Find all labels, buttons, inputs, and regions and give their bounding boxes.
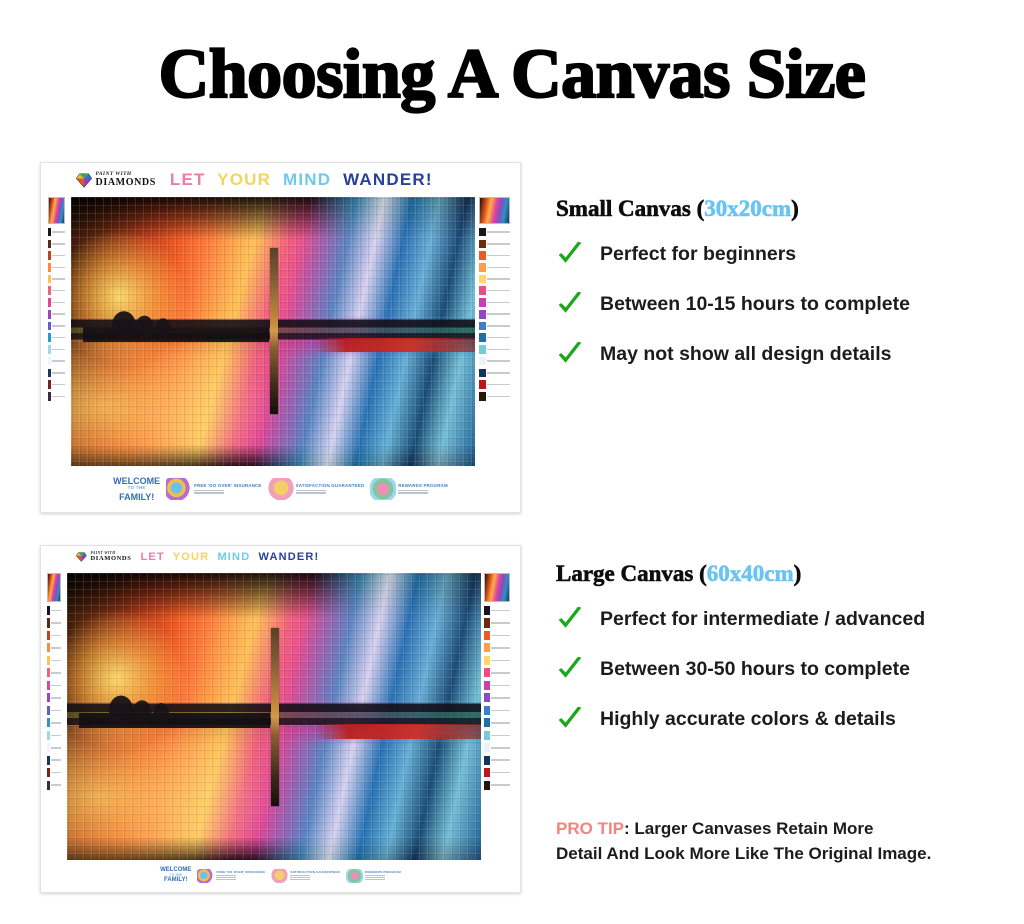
color-legend-left xyxy=(47,573,61,860)
badge-do-over-insurance: FREE 'DO OVER' INSURANCE xyxy=(197,869,265,883)
paint-splash-icon xyxy=(166,478,192,500)
legend-row xyxy=(479,309,510,320)
badge-title: SATISFACTION GUARANTEED xyxy=(290,871,340,874)
legend-row xyxy=(47,630,61,641)
tagline-word-1: LET xyxy=(170,170,206,189)
brand-main: DIAMONDS xyxy=(91,556,132,563)
canvas-tagline: LET YOUR MIND WANDER! xyxy=(140,551,323,563)
legend-row xyxy=(48,391,65,402)
legend-row xyxy=(484,617,510,628)
badge-text: SATISFACTION GUARANTEED xyxy=(290,871,340,880)
artwork-thumbnail xyxy=(479,197,510,224)
heading-prefix: Small Canvas ( xyxy=(556,196,704,221)
legend-row xyxy=(47,692,61,703)
gift-icon xyxy=(346,869,363,883)
feature-label: Perfect for intermediate / advanced xyxy=(600,608,925,631)
legend-rows xyxy=(48,225,65,466)
large-canvas-heading: Large Canvas (60x40cm) xyxy=(556,561,925,587)
legend-row xyxy=(479,379,510,390)
legend-row xyxy=(48,262,65,273)
legend-row xyxy=(479,368,510,379)
legend-row xyxy=(479,356,510,367)
feature-label: Perfect for beginners xyxy=(600,243,796,266)
heading-size: 60x40cm xyxy=(707,561,794,586)
legend-row xyxy=(479,332,510,343)
legend-row xyxy=(47,717,61,728)
brand-text: PAINT WITH DIAMONDS xyxy=(91,552,132,562)
check-icon xyxy=(556,240,584,268)
artwork-thumbnail xyxy=(484,573,510,602)
badge-satisfaction-guaranteed: SATISFACTION GUARANTEED xyxy=(268,478,365,500)
canvas-tagline: LET YOUR MIND WANDER! xyxy=(170,170,439,190)
legend-row xyxy=(484,730,510,741)
badge-text: FREE 'DO OVER' INSURANCE xyxy=(194,484,261,494)
welcome-line2: FAMILY! xyxy=(164,877,187,883)
badge-title: SATISFACTION GUARANTEED xyxy=(296,484,365,489)
canvas-preview-large[interactable]: PAINT WITH DIAMONDS LET YOUR MIND WANDER… xyxy=(40,545,521,893)
artwork-monument xyxy=(270,248,278,415)
section-small-canvas: Small Canvas (30x20cm) Perfect for begin… xyxy=(556,196,910,390)
legend-row xyxy=(479,238,510,249)
legend-row xyxy=(48,356,65,367)
legend-row xyxy=(47,705,61,716)
certificate-icon xyxy=(271,869,288,883)
canvas-artwork xyxy=(71,197,476,466)
heading-suffix: ) xyxy=(794,561,802,586)
legend-row xyxy=(479,285,510,296)
pro-tip: PRO TIP: Larger Canvases Retain More Det… xyxy=(556,816,931,866)
badge-satisfaction-guaranteed: SATISFACTION GUARANTEED xyxy=(271,869,340,883)
welcome-line2: FAMILY! xyxy=(119,492,154,502)
legend-rows xyxy=(484,603,510,860)
pro-tip-separator: : xyxy=(624,819,634,838)
legend-row xyxy=(484,742,510,753)
brand-text: PAINT WITH DIAMONDS xyxy=(96,172,156,188)
feature-label: Between 10-15 hours to complete xyxy=(600,293,910,316)
legend-row xyxy=(47,642,61,653)
legend-row xyxy=(47,605,61,616)
badge-rewards-program: REWARDS PROGRAM xyxy=(370,478,448,500)
artwork-thumbnail xyxy=(48,197,65,224)
legend-row xyxy=(484,642,510,653)
legend-row xyxy=(48,297,65,308)
tagline-word-4: WANDER! xyxy=(343,170,433,189)
artwork-treeline xyxy=(79,688,270,728)
color-legend-right xyxy=(484,573,510,860)
badge-title: REWARDS PROGRAM xyxy=(398,484,448,489)
pro-tip-line2: Detail And Look More Like The Original I… xyxy=(556,844,931,863)
legend-row xyxy=(479,391,510,402)
badge-rewards-program: REWARDS PROGRAM xyxy=(346,869,401,883)
legend-row xyxy=(484,755,510,766)
canvas-artwork xyxy=(67,573,481,860)
legend-row xyxy=(48,344,65,355)
heading-suffix: ) xyxy=(791,196,799,221)
section-large-canvas: Large Canvas (60x40cm) Perfect for inter… xyxy=(556,561,925,755)
feature-label: Between 30-50 hours to complete xyxy=(600,658,910,681)
legend-row xyxy=(484,655,510,666)
tagline-word-2: YOUR xyxy=(217,170,271,189)
gift-icon xyxy=(370,478,396,500)
legend-row xyxy=(47,779,61,790)
badge-text: SATISFACTION GUARANTEED xyxy=(296,484,365,494)
legend-row xyxy=(48,332,65,343)
badge-text: FREE 'DO OVER' INSURANCE xyxy=(216,871,265,880)
legend-row xyxy=(484,767,510,778)
legend-row xyxy=(48,285,65,296)
legend-row xyxy=(47,767,61,778)
legend-row xyxy=(47,655,61,666)
certificate-icon xyxy=(268,478,294,500)
welcome-line1: WELCOME xyxy=(113,476,160,486)
legend-rows xyxy=(479,225,510,466)
feature-label: Highly accurate colors & details xyxy=(600,708,896,731)
canvas-preview-small[interactable]: PAINT WITH DIAMONDS LET YOUR MIND WANDER… xyxy=(40,162,521,513)
heading-prefix: Large Canvas ( xyxy=(556,561,707,586)
diamond-gem-icon xyxy=(75,173,92,188)
legend-row xyxy=(48,379,65,390)
page-title: Choosing A Canvas Size xyxy=(0,36,1024,114)
legend-row xyxy=(48,274,65,285)
brand-logo: PAINT WITH DIAMONDS xyxy=(75,172,156,188)
tagline-word-3: MIND xyxy=(217,551,250,563)
brand-logo: PAINT WITH DIAMONDS xyxy=(75,552,132,562)
legend-row xyxy=(47,680,61,691)
badge-text: REWARDS PROGRAM xyxy=(365,871,401,880)
legend-row xyxy=(48,309,65,320)
artwork-treeline xyxy=(83,304,269,342)
legend-row xyxy=(479,344,510,355)
check-icon xyxy=(556,340,584,368)
legend-row xyxy=(484,779,510,790)
legend-row xyxy=(484,680,510,691)
legend-row xyxy=(47,730,61,741)
artwork-red-reflection xyxy=(314,338,476,352)
check-icon xyxy=(556,705,584,733)
artwork-thumbnail xyxy=(47,573,61,602)
welcome-message: WELCOME TO THE FAMILY! xyxy=(160,867,191,885)
badge-title: REWARDS PROGRAM xyxy=(365,871,401,874)
legend-row xyxy=(484,630,510,641)
canvas-footer-small: WELCOME TO THE FAMILY! FREE 'DO OVER' IN… xyxy=(41,467,520,512)
tagline-word-1: LET xyxy=(140,551,164,563)
badge-do-over-insurance: FREE 'DO OVER' INSURANCE xyxy=(166,478,261,500)
welcome-message: WELCOME TO THE FAMILY! xyxy=(113,476,160,502)
welcome-line1: WELCOME xyxy=(160,867,191,873)
legend-row xyxy=(47,755,61,766)
artwork-red-reflection xyxy=(315,724,481,739)
legend-row xyxy=(48,250,65,261)
check-icon xyxy=(556,655,584,683)
legend-row xyxy=(479,274,510,285)
legend-row xyxy=(47,617,61,628)
legend-row xyxy=(47,667,61,678)
diamond-gem-icon xyxy=(75,552,87,562)
pro-tip-label: PRO TIP xyxy=(556,819,624,838)
badge-text: REWARDS PROGRAM xyxy=(398,484,448,494)
legend-row xyxy=(479,262,510,273)
feature-item: Perfect for intermediate / advanced xyxy=(556,605,925,633)
small-canvas-heading: Small Canvas (30x20cm) xyxy=(556,196,910,222)
legend-rows xyxy=(47,603,61,860)
legend-row xyxy=(48,238,65,249)
tagline-word-3: MIND xyxy=(283,170,331,189)
legend-row xyxy=(484,717,510,728)
feature-item: Perfect for beginners xyxy=(556,240,910,268)
legend-row xyxy=(484,605,510,616)
legend-row xyxy=(48,321,65,332)
check-icon xyxy=(556,605,584,633)
feature-label: May not show all design details xyxy=(600,343,891,366)
tagline-word-2: YOUR xyxy=(173,551,210,563)
legend-row xyxy=(484,705,510,716)
color-legend-right xyxy=(479,197,510,466)
legend-row xyxy=(47,742,61,753)
check-icon xyxy=(556,290,584,318)
feature-item: Highly accurate colors & details xyxy=(556,705,925,733)
legend-row xyxy=(48,227,65,238)
legend-row xyxy=(479,297,510,308)
feature-item: Between 10-15 hours to complete xyxy=(556,290,910,318)
legend-row xyxy=(484,692,510,703)
paint-splash-icon xyxy=(197,869,214,883)
feature-item: May not show all design details xyxy=(556,340,910,368)
tagline-word-4: WANDER! xyxy=(258,551,319,563)
pro-tip-line1: Larger Canvases Retain More xyxy=(634,819,873,838)
legend-row xyxy=(484,667,510,678)
canvas-header-small: PAINT WITH DIAMONDS LET YOUR MIND WANDER… xyxy=(41,163,520,197)
brand-main: DIAMONDS xyxy=(96,178,156,188)
artwork-monument xyxy=(271,628,279,806)
feature-item: Between 30-50 hours to complete xyxy=(556,655,925,683)
canvas-header-large: PAINT WITH DIAMONDS LET YOUR MIND WANDER… xyxy=(41,546,520,568)
legend-row xyxy=(479,321,510,332)
legend-row xyxy=(48,368,65,379)
legend-row xyxy=(479,227,510,238)
badge-title: FREE 'DO OVER' INSURANCE xyxy=(194,484,261,489)
legend-row xyxy=(479,250,510,261)
heading-size: 30x20cm xyxy=(704,196,791,221)
badge-title: FREE 'DO OVER' INSURANCE xyxy=(216,871,265,874)
canvas-footer-large: WELCOME TO THE FAMILY! FREE 'DO OVER' IN… xyxy=(41,859,520,892)
color-legend-left xyxy=(48,197,65,466)
